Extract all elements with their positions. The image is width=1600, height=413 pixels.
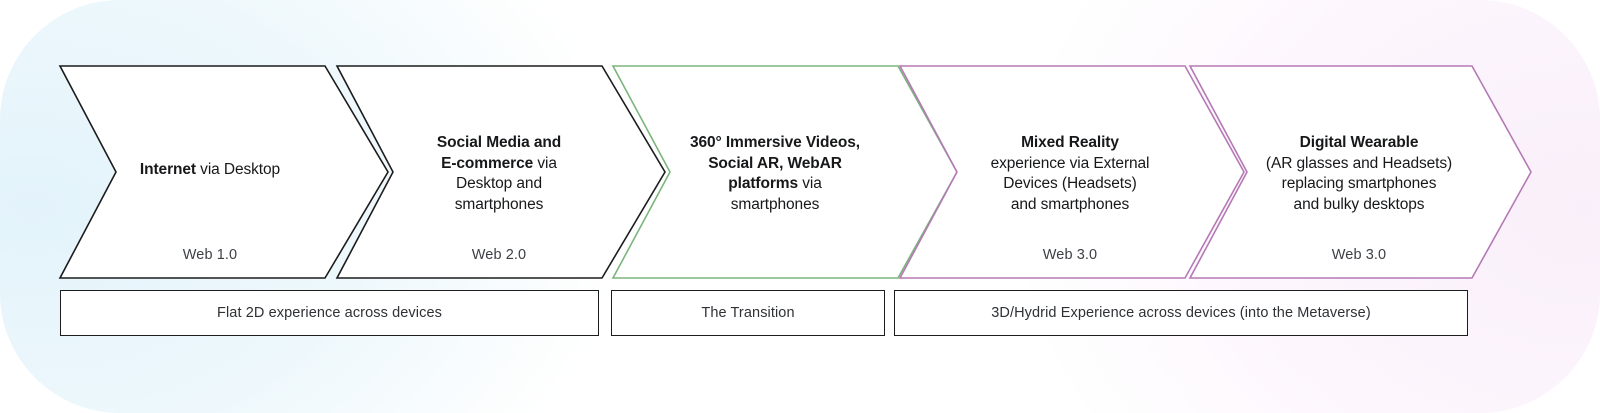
stage-era-web2: Web 2.0: [392, 247, 606, 263]
stage-title-web3-mr: Mixed Reality: [1021, 134, 1119, 151]
stage-subtitle-web2-l3: Desktop and: [456, 175, 542, 192]
stage-title-transition-l3: platforms: [728, 175, 798, 192]
stage-label-web3-wearable: Digital Wearable (AR glasses and Headset…: [1243, 133, 1475, 215]
band-box-3d-hybrid[interactable]: 3D/Hydrid Experience across devices (int…: [894, 290, 1468, 336]
stage-era-web3-mr: Web 3.0: [955, 247, 1185, 263]
stage-subtitle-web2-l4: smartphones: [455, 196, 544, 213]
band-label-transition: The Transition: [701, 305, 794, 321]
stage-subtitle-web3-wearable-l4: and bulky desktops: [1294, 196, 1425, 213]
stage-era-web3-wearable: Web 3.0: [1243, 247, 1475, 263]
stage-subtitle-web3-wearable-l3: replacing smartphones: [1282, 175, 1437, 192]
stage-title-web2-l1: Social Media and: [437, 134, 561, 151]
stage-subtitle-web3-mr-l2: experience via External: [991, 155, 1150, 172]
stage-subtitle-web1: via Desktop: [196, 161, 280, 178]
stage-subtitle-web3-mr-l3: Devices (Headsets): [1003, 175, 1136, 192]
stage-title-web2-l2: E-commerce: [441, 155, 533, 172]
stage-title-web3-wearable: Digital Wearable: [1300, 134, 1419, 151]
band-box-flat-2d[interactable]: Flat 2D experience across devices: [60, 290, 599, 336]
stage-subtitle-web3-wearable-l2: (AR glasses and Headsets): [1266, 155, 1452, 172]
diagram-canvas: Internet via Desktop Web 1.0 Social Medi…: [0, 0, 1600, 413]
stage-subtitle-web3-mr-l4: and smartphones: [1011, 196, 1129, 213]
stage-title-web1: Internet: [140, 161, 196, 178]
band-box-transition[interactable]: The Transition: [611, 290, 885, 336]
stage-subtitle-transition-l4: smartphones: [731, 196, 820, 213]
band-label-3d-hybrid: 3D/Hydrid Experience across devices (int…: [991, 305, 1371, 321]
stage-subtitle-transition-l3: via: [798, 175, 822, 192]
stage-subtitle-web2-l2: via: [533, 155, 557, 172]
stage-title-transition-l2: Social AR, WebAR: [708, 155, 842, 172]
stage-label-web3-mr: Mixed Reality experience via External De…: [955, 133, 1185, 215]
stage-label-web2: Social Media and E-commerce via Desktop …: [392, 133, 606, 215]
stage-label-web1: Internet via Desktop: [100, 160, 320, 181]
band-label-flat-2d: Flat 2D experience across devices: [217, 305, 442, 321]
stage-title-transition-l1: 360° Immersive Videos,: [690, 134, 860, 151]
stage-era-web1: Web 1.0: [100, 247, 320, 263]
stage-label-transition: 360° Immersive Videos, Social AR, WebAR …: [660, 133, 890, 215]
